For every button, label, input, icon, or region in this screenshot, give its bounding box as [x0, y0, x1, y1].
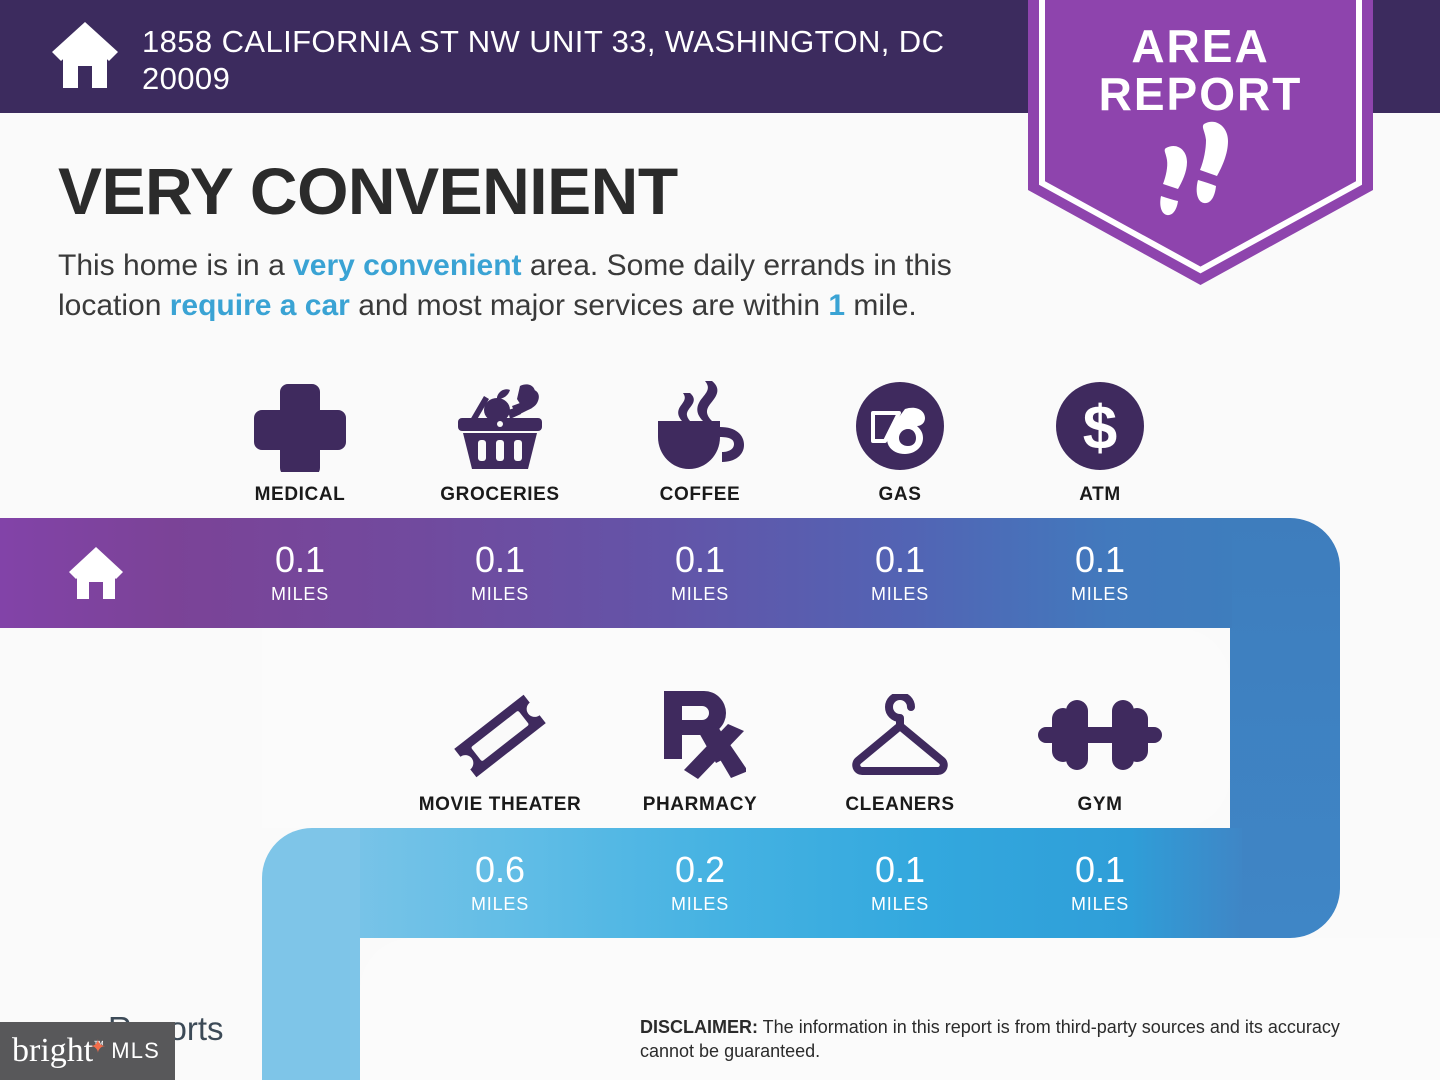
distance-cell-medical: 0.1 MILES	[200, 518, 400, 628]
summary-text: This home is in a very convenient area. …	[58, 246, 1018, 326]
page-title: VERY CONVENIENT	[58, 158, 1018, 224]
disclaimer: DISCLAIMER: The information in this repo…	[640, 1016, 1385, 1064]
summary-part-3: and most major services are within	[350, 289, 829, 322]
distance-value: 0.1	[675, 542, 725, 578]
distance-value: 0.1	[875, 852, 925, 888]
distance-row-1: 0.1 MILES 0.1 MILES 0.1 MILES 0.1 MILES …	[200, 518, 1200, 628]
brightmls-logo: bright™✦ MLS	[0, 1022, 175, 1080]
dollar-sign-icon: $	[1055, 378, 1145, 474]
amenity-label: GROCERIES	[440, 484, 559, 506]
amenity-label: MOVIE THEATER	[419, 794, 582, 816]
amenity-label: COFFEE	[660, 484, 741, 506]
summary-part-4: mile.	[845, 289, 917, 322]
header-content: 1858 CALIFORNIA ST NW UNIT 33, WASHINGTO…	[50, 8, 952, 97]
amenity-label: MEDICAL	[255, 484, 346, 506]
amenity-gas: GAS	[800, 366, 1000, 506]
distance-cell-gas: 0.1 MILES	[800, 518, 1000, 628]
amenity-label: GYM	[1077, 794, 1122, 816]
property-address: 1858 CALIFORNIA ST NW UNIT 33, WASHINGTO…	[142, 24, 952, 97]
distance-value: 0.1	[1075, 542, 1125, 578]
disclaimer-label: DISCLAIMER:	[640, 1017, 758, 1037]
area-report-badge: AREA REPORT	[1028, 0, 1373, 285]
amenity-gym: GYM	[1000, 676, 1200, 816]
ribbon-right-bend	[1230, 518, 1340, 938]
amenity-icon-row-1: MEDICAL	[200, 366, 1200, 506]
distance-cell-cleaners: 0.1 MILES	[800, 828, 1000, 938]
amenity-label: PHARMACY	[643, 794, 758, 816]
bright-text: bright	[12, 1032, 93, 1069]
distance-unit: MILES	[1071, 894, 1129, 915]
distance-value: 0.1	[1075, 852, 1125, 888]
distance-cell-movie-theater: 0.6 MILES	[400, 828, 600, 938]
amenity-label: CLEANERS	[845, 794, 954, 816]
bright-wordmark: bright™✦	[12, 1032, 104, 1070]
medical-cross-icon	[254, 378, 346, 474]
distance-value: 0.2	[675, 852, 725, 888]
distance-unit: MILES	[671, 584, 729, 605]
summary-part-1: This home is in a	[58, 249, 293, 282]
distance-cell-pharmacy: 0.2 MILES	[600, 828, 800, 938]
badge-line-2: REPORT	[1099, 68, 1303, 120]
distance-cell-coffee: 0.1 MILES	[600, 518, 800, 628]
summary-highlight-1: very convenient	[293, 249, 521, 282]
amenity-coffee: COFFEE	[600, 366, 800, 506]
clothes-hanger-icon	[845, 688, 955, 784]
star-icon: ✦	[90, 1036, 106, 1059]
amenity-label: GAS	[879, 484, 922, 506]
distance-unit: MILES	[471, 584, 529, 605]
svg-text:$: $	[1083, 394, 1117, 463]
badge-line-1: AREA	[1131, 20, 1269, 72]
movie-ticket-icon	[450, 688, 550, 784]
distance-unit: MILES	[271, 584, 329, 605]
dumbbell-icon	[1038, 688, 1162, 784]
home-icon	[50, 18, 120, 90]
ribbon-left-bend	[262, 828, 360, 938]
distance-cell-groceries: 0.1 MILES	[400, 518, 600, 628]
distance-value: 0.1	[875, 542, 925, 578]
distance-unit: MILES	[871, 584, 929, 605]
amenity-groceries: GROCERIES	[400, 366, 600, 506]
distance-unit: MILES	[471, 894, 529, 915]
amenity-movie-theater: MOVIE THEATER	[400, 676, 600, 816]
distance-unit: MILES	[671, 894, 729, 915]
distance-value: 0.1	[275, 542, 325, 578]
distance-value: 0.1	[475, 542, 525, 578]
ribbon-tail	[262, 900, 360, 1080]
distance-unit: MILES	[871, 894, 929, 915]
amenity-icon-row-2: MOVIE THEATER PHARMACY	[400, 676, 1200, 816]
summary-highlight-3: 1	[828, 289, 845, 322]
grocery-basket-icon	[450, 378, 550, 474]
amenity-pharmacy: PHARMACY	[600, 676, 800, 816]
amenity-cleaners: CLEANERS	[800, 676, 1000, 816]
mls-text: MLS	[111, 1038, 160, 1064]
amenity-medical: MEDICAL	[200, 366, 400, 506]
gas-76-icon	[855, 378, 945, 474]
distance-cell-atm: 0.1 MILES	[1000, 518, 1200, 628]
home-marker-icon	[67, 545, 125, 601]
distance-row-2: 0.6 MILES 0.2 MILES 0.1 MILES 0.1 MILES	[400, 828, 1200, 938]
coffee-cup-icon	[650, 378, 750, 474]
rx-pharmacy-icon	[654, 688, 746, 784]
summary-highlight-2: require a car	[170, 289, 350, 322]
amenity-atm: $ ATM	[1000, 366, 1200, 506]
distance-cell-gym: 0.1 MILES	[1000, 828, 1200, 938]
amenity-label: ATM	[1079, 484, 1121, 506]
title-block: VERY CONVENIENT This home is in a very c…	[58, 158, 1018, 326]
distance-value: 0.6	[475, 852, 525, 888]
distance-unit: MILES	[1071, 584, 1129, 605]
